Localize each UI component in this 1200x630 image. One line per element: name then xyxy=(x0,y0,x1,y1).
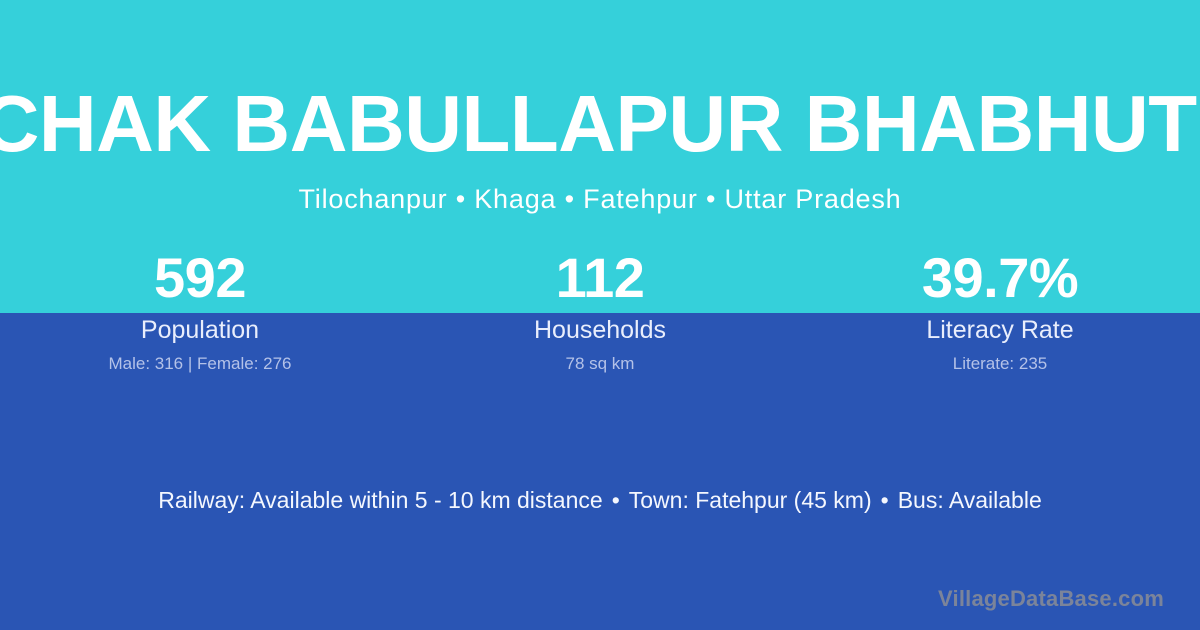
stat-literacy-count: Literate: 235 xyxy=(800,353,1200,375)
village-location-breadcrumb: Tilochanpur • Khaga • Fatehpur • Uttar P… xyxy=(0,181,1200,217)
infra-bus: Bus: Available xyxy=(898,487,1042,513)
infra-town: Town: Fatehpur (45 km) xyxy=(629,487,872,513)
stat-households-value: 112 xyxy=(400,247,800,309)
stat-literacy-rate-value: 39.7% xyxy=(800,247,1200,309)
infra-separator-1: • xyxy=(603,484,629,516)
village-info-card: CHAK BABULLAPUR BHABHUTI Tilochanpur • K… xyxy=(0,0,1200,630)
stat-households-area: 78 sq km xyxy=(400,353,800,375)
stat-households: 112 Households 78 sq km xyxy=(400,247,800,375)
stat-literacy-rate: 39.7% Literacy Rate Literate: 235 xyxy=(800,247,1200,375)
stat-households-label: Households xyxy=(400,315,800,345)
infra-railway: Railway: Available within 5 - 10 km dist… xyxy=(158,487,602,513)
statistics-row: 592 Population Male: 316 | Female: 276 1… xyxy=(0,247,1200,375)
stat-population-breakdown: Male: 316 | Female: 276 xyxy=(0,353,400,375)
infra-separator-2: • xyxy=(872,484,898,516)
stat-population-value: 592 xyxy=(0,247,400,309)
stat-population-label: Population xyxy=(0,315,400,345)
site-watermark: VillageDataBase.com xyxy=(938,585,1164,613)
stat-literacy-rate-label: Literacy Rate xyxy=(800,315,1200,345)
stat-population: 592 Population Male: 316 | Female: 276 xyxy=(0,247,400,375)
village-title: CHAK BABULLAPUR BHABHUTI xyxy=(0,76,1200,172)
infrastructure-summary: Railway: Available within 5 - 10 km dist… xyxy=(0,484,1200,516)
